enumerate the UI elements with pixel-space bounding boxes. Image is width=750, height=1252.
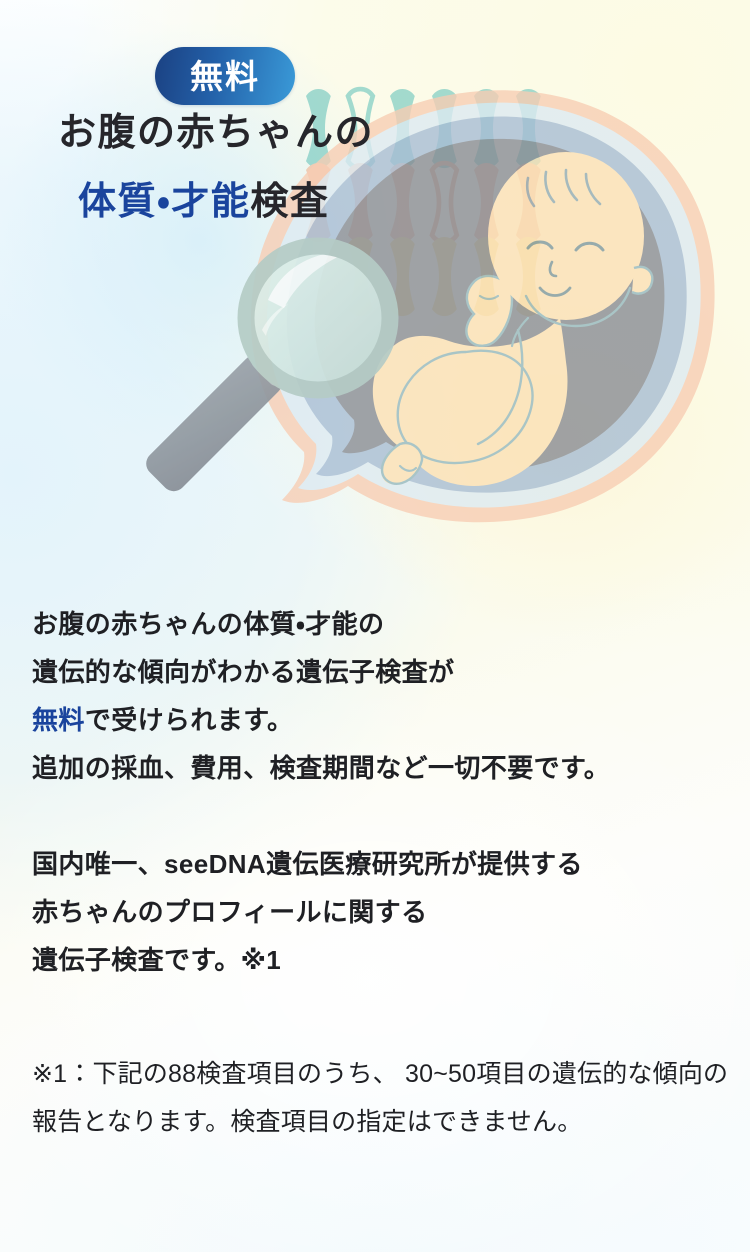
- paragraph-1-line-2: 遺伝的な傾向がわかる遺伝子検査が: [32, 648, 722, 696]
- paragraph-2-line-2: 赤ちゃんのプロフィールに関する: [32, 888, 722, 936]
- footnote-note-1: ※1：下記の88検査項目のうち、 30~50項目の遺伝的な傾向の報告となります。…: [32, 1050, 732, 1146]
- paragraph-1-line-1: お腹の赤ちゃんの体質・才能の: [32, 600, 722, 648]
- paragraph-2: 国内唯一、seeDNA遺伝医療研究所が提供する 赤ちゃんのプロフィールに関する …: [32, 840, 722, 984]
- hero-title: お腹の赤ちゃんの 体質・才能検査: [0, 114, 750, 221]
- paragraph-2-line-3: 遺伝子検査です。※1: [32, 936, 722, 984]
- body-copy: お腹の赤ちゃんの体質・才能の 遺伝的な傾向がわかる遺伝子検査が 無料で受けられま…: [32, 600, 722, 984]
- paragraph-1-line-1-text: お腹の赤ちゃんの体質・才能の: [32, 609, 384, 639]
- paragraph-1-line-4: 追加の採血、費用、検査期間など一切不要です。: [32, 744, 722, 792]
- paragraph-1-line-3-text: で受けられます。: [85, 705, 294, 735]
- paragraph-2-line-2-text: 赤ちゃんのプロフィールに関する: [32, 897, 427, 927]
- free-badge: 無料: [155, 47, 295, 105]
- paragraph-2-line-1: 国内唯一、seeDNA遺伝医療研究所が提供する: [32, 840, 722, 888]
- hero-title-plain: 検査: [250, 181, 329, 223]
- free-highlight: 無料: [32, 705, 85, 735]
- hero-title-line-2: 体質・才能検査: [78, 183, 750, 221]
- hero-title-line-1: お腹の赤ちゃんの: [58, 114, 750, 152]
- paragraph-spacer: [32, 792, 722, 840]
- hero-title-accent: 体質・才能: [78, 181, 250, 223]
- paragraph-2-line-3-text: 遺伝子検査です。※1: [32, 945, 281, 975]
- promo-page: 無料 お腹の赤ちゃんの 体質・才能検査 お腹の赤ちゃんの体質・才能の 遺伝的な傾…: [0, 0, 750, 1252]
- paragraph-1-line-2-text: 遺伝的な傾向がわかる遺伝子検査が: [32, 657, 454, 687]
- paragraph-1-line-3: 無料で受けられます。: [32, 696, 722, 744]
- paragraph-2-line-1-text: 国内唯一、seeDNA遺伝医療研究所が提供する: [32, 849, 583, 879]
- paragraph-1: お腹の赤ちゃんの体質・才能の 遺伝的な傾向がわかる遺伝子検査が 無料で受けられま…: [32, 600, 722, 792]
- free-badge-label: 無料: [190, 60, 260, 93]
- paragraph-1-line-4-text: 追加の採血、費用、検査期間など一切不要です。: [32, 753, 610, 783]
